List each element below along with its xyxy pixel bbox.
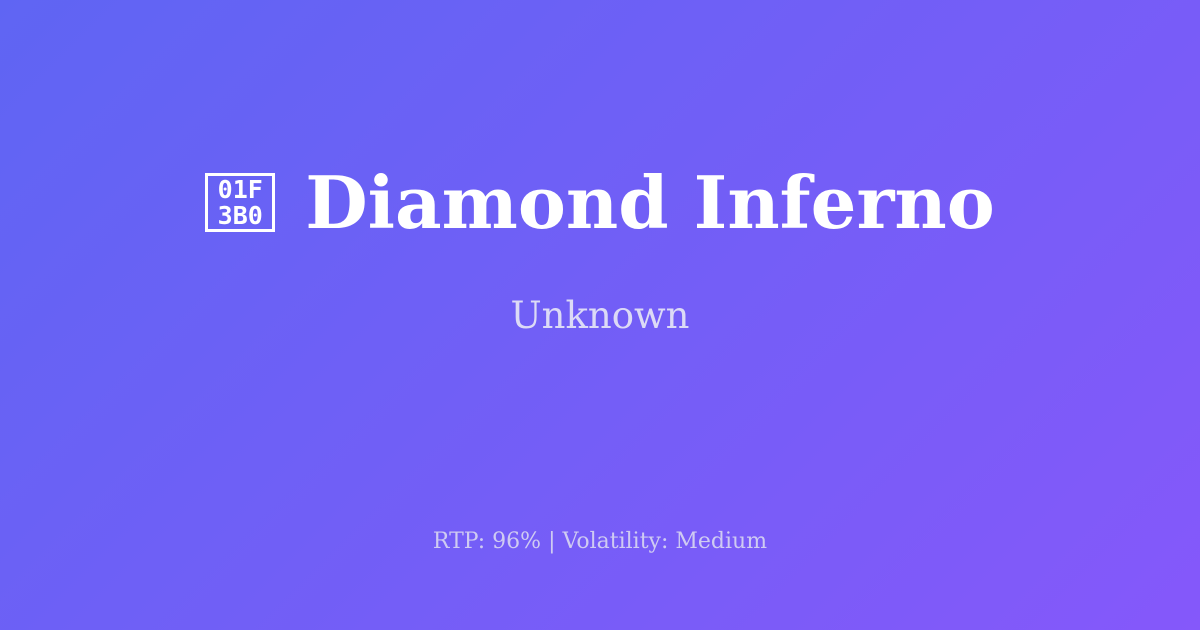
slot-machine-icon: 01F 3B0	[205, 173, 275, 232]
game-stats-line: RTP: 96% | Volatility: Medium	[0, 528, 1200, 556]
tofu-codepoint-high: 01F	[218, 177, 263, 203]
tofu-codepoint-low: 3B0	[218, 203, 263, 229]
hero-block: 01F 3B0 Diamond Inferno Unknown	[0, 0, 1200, 500]
game-provider: Unknown	[510, 297, 689, 334]
game-og-card: 01F 3B0 Diamond Inferno Unknown RTP: 96%…	[0, 0, 1200, 630]
game-title: Diamond Inferno	[305, 167, 995, 239]
title-row: 01F 3B0 Diamond Inferno	[205, 167, 995, 239]
